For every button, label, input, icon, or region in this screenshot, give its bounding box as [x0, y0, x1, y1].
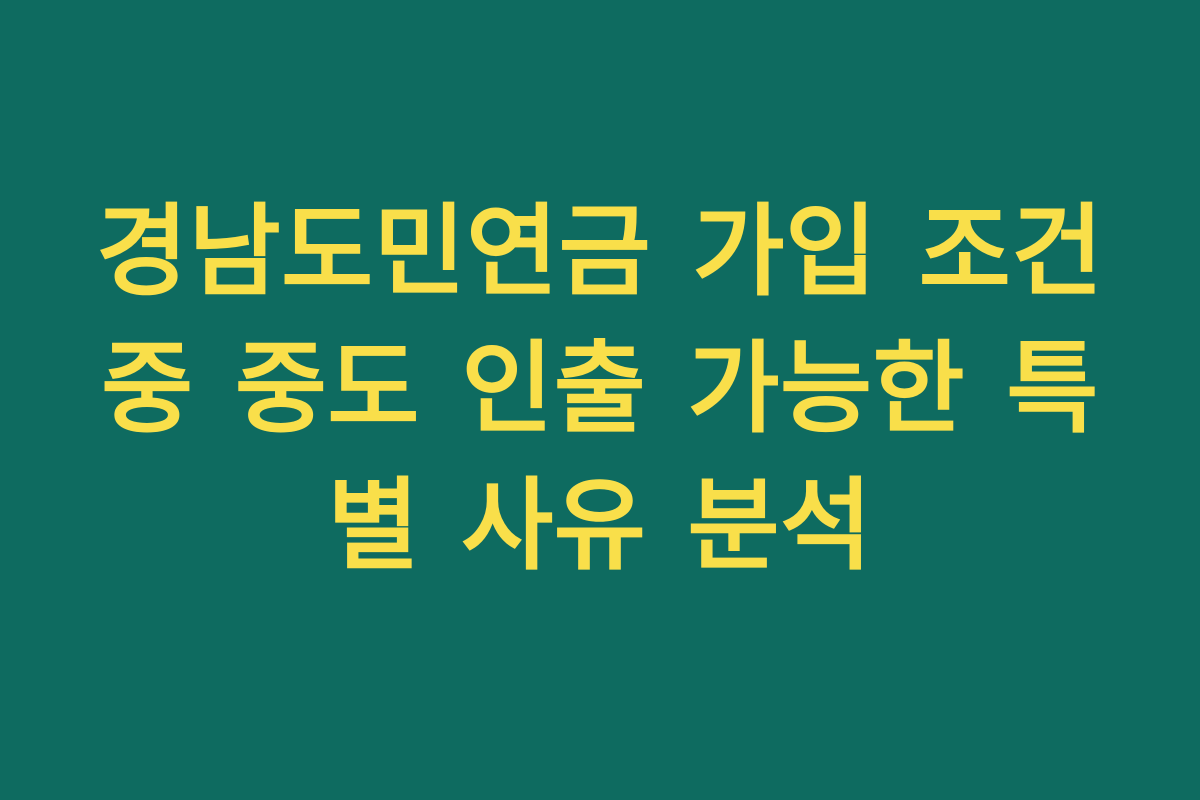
- headline-line-3: 별 사유 분석: [95, 457, 1105, 594]
- headline-line-1: 경남도민연금 가입 조건: [95, 183, 1105, 320]
- headline-title: 경남도민연금 가입 조건 중 중도 인출 가능한 특 별 사유 분석: [95, 183, 1105, 594]
- text-banner: 경남도민연금 가입 조건 중 중도 인출 가능한 특 별 사유 분석: [0, 0, 1200, 800]
- headline-line-2: 중 중도 인출 가능한 특: [95, 320, 1105, 457]
